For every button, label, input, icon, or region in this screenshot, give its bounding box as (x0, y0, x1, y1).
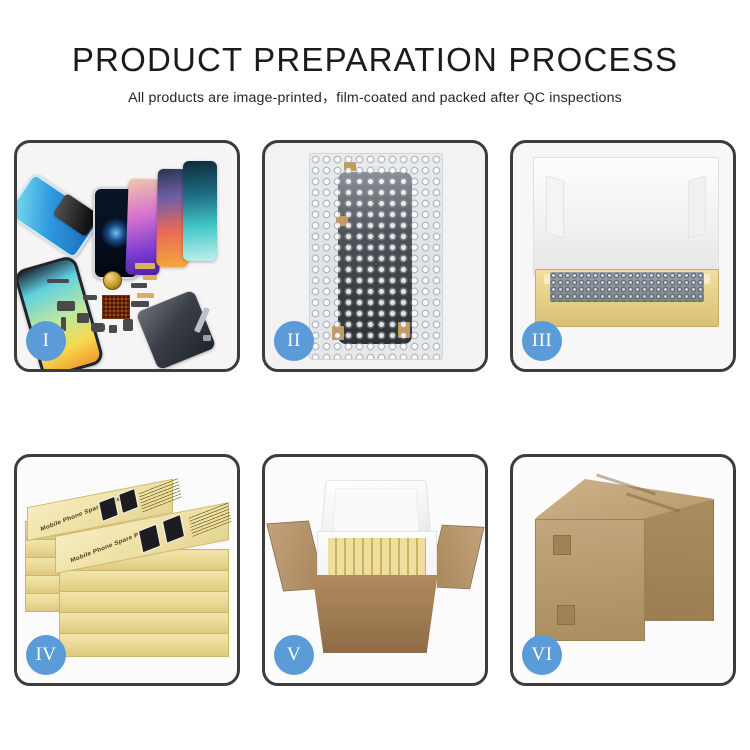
step-badge-1: I (26, 321, 66, 361)
carton-tape-lower (557, 605, 575, 625)
part-block-4 (109, 325, 117, 333)
tape-piece-top (344, 162, 356, 171)
tape-piece-middle (336, 216, 348, 226)
packed-units (328, 538, 426, 578)
part-strip-1 (47, 279, 69, 283)
stacked-box-front-2 (59, 570, 229, 592)
top-front-box-thumb-1 (138, 524, 161, 554)
part-block-5 (123, 319, 133, 331)
part-block-2 (77, 313, 89, 323)
top-front-box-spec-lines (188, 501, 231, 537)
carton-body (307, 575, 443, 653)
process-step-panel-2: II (262, 140, 488, 372)
top-back-box-thumb-2 (118, 488, 139, 514)
process-step-panel-3: III (510, 140, 736, 372)
top-back-box-thumb-1 (98, 496, 119, 522)
gold-coil-part-icon (103, 271, 122, 290)
step-badge-4: IV (26, 635, 66, 675)
page-subtitle: All products are image-printed，film-coat… (0, 89, 750, 107)
part-strip-4 (131, 301, 149, 307)
kraft-box-base (535, 269, 719, 327)
styrofoam-lid-inner (332, 488, 419, 532)
carton-tape-upper (553, 535, 571, 555)
lid-flap-right (688, 175, 706, 238)
teal-display-phone-icon (183, 161, 217, 261)
process-step-grid: I II (14, 140, 736, 686)
process-step-panel-5: V (262, 454, 488, 686)
header: PRODUCT PREPARATION PROCESS All products… (0, 40, 750, 107)
white-box-lid (533, 157, 719, 277)
stacked-box-front-4 (59, 612, 229, 634)
process-step-panel-4: Mobile Phone Spare Parts Mobile Phone Sp… (14, 454, 240, 686)
carton-side-face (643, 499, 714, 621)
flex-cable-3 (137, 293, 154, 298)
flex-cable-2 (143, 275, 157, 280)
stacked-box-front-5 (59, 633, 229, 657)
bubble-wrap-bag (309, 153, 443, 360)
tape-piece-bottom-left (332, 326, 344, 340)
part-strip-2 (83, 295, 97, 300)
step-badge-3: III (522, 321, 562, 361)
step-badge-5: V (274, 635, 314, 675)
chip-array-part-icon (102, 295, 130, 319)
product-preparation-infographic: PRODUCT PREPARATION PROCESS All products… (0, 0, 750, 750)
tape-piece-bottom-right (398, 322, 410, 338)
flex-cable-1 (135, 263, 155, 269)
step-badge-2: II (274, 321, 314, 361)
wrapped-lcd-screen (338, 172, 412, 344)
part-block-3 (91, 323, 105, 332)
stacked-box-front-3 (59, 591, 229, 613)
top-back-box-spec-lines (138, 476, 181, 512)
step-badge-6: VI (522, 635, 562, 675)
top-front-box-thumb-2 (162, 514, 185, 544)
part-strip-3 (131, 283, 147, 288)
page-title: PRODUCT PREPARATION PROCESS (0, 40, 750, 80)
process-step-panel-6: VI (510, 454, 736, 686)
part-tool-tip (203, 335, 211, 341)
lid-flap-left (546, 175, 564, 238)
carton-front-face (535, 519, 645, 641)
part-block-1 (57, 301, 75, 311)
process-step-panel-1: I (14, 140, 240, 372)
grey-bubble-wrap-filler (550, 272, 704, 302)
